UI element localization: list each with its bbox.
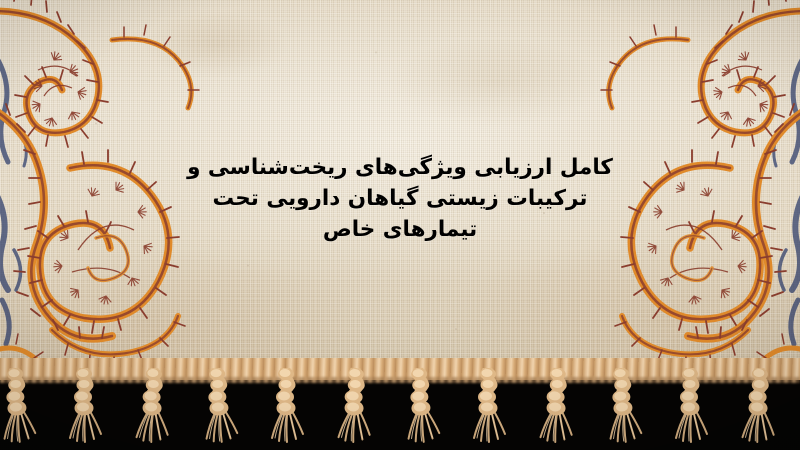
- title-line-2: ترکیبات زیستی گیاهان دارویی تحت: [0, 183, 800, 214]
- slide-title: کامل ارزیابی ویژگی‌های ریخت‌شناسی و ترکی…: [0, 152, 800, 245]
- tassel: [196, 367, 242, 450]
- title-line-3: تیمارهای خاص: [0, 214, 800, 245]
- tassel: [533, 367, 579, 450]
- tassel: [63, 368, 105, 450]
- tassel: [467, 368, 509, 450]
- title-line-1: کامل ارزیابی ویژگی‌های ریخت‌شناسی و: [0, 152, 800, 183]
- slide-canvas: کامل ارزیابی ویژگی‌های ریخت‌شناسی و ترکی…: [0, 0, 800, 450]
- tassel: [735, 367, 781, 450]
- tassel: [0, 367, 40, 450]
- tassel: [331, 367, 377, 450]
- tassel: [265, 368, 307, 450]
- tassel: [129, 367, 175, 450]
- tassel-fringe: [0, 358, 800, 450]
- tassel: [398, 367, 444, 450]
- tassel: [600, 367, 646, 450]
- tassel: [669, 368, 711, 450]
